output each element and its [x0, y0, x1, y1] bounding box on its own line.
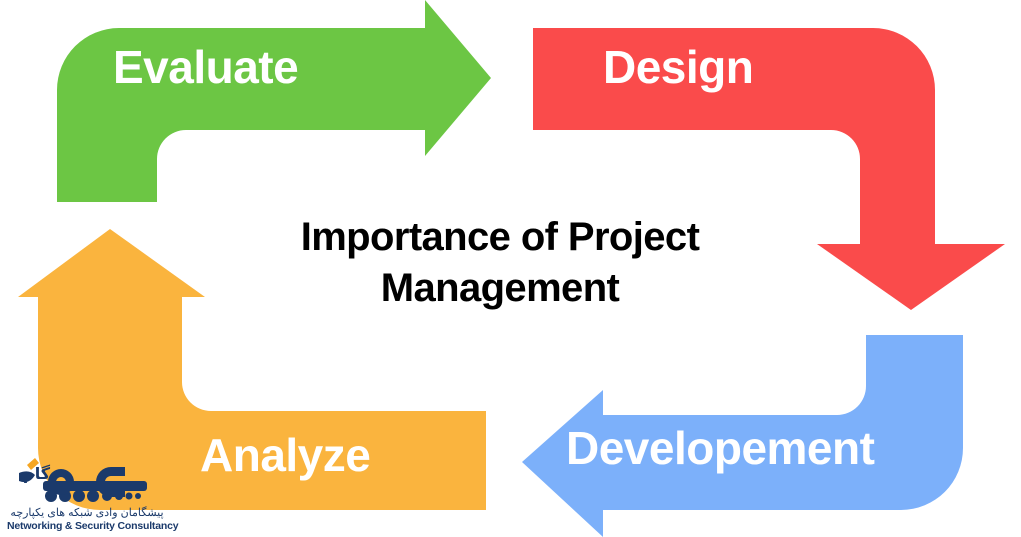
arrow-label-design: Design — [603, 44, 753, 90]
diagram-center-title: Importance of Project Management — [205, 212, 795, 314]
arrow-evaluate[interactable] — [57, 0, 491, 202]
arrow-label-evaluate: Evaluate — [113, 44, 298, 90]
diagram-canvas: Evaluate Design Developement Analyze Imp… — [0, 0, 1021, 537]
center-title-line-1: Importance of Project — [205, 212, 795, 263]
svg-text:گام: گام — [23, 464, 51, 483]
watermark-tagline-fa: پیشگامان وادی شبکه های یکپارچه — [7, 507, 167, 520]
watermark-logo: گام پیشگامان وادی شبکه های یکپارچه Netwo… — [7, 455, 167, 533]
watermark-mark: گام — [7, 455, 167, 507]
watermark-glyph-icon: گام — [7, 455, 167, 507]
watermark-tagline-en: Networking & Security Consultancy — [7, 520, 167, 532]
arrow-label-analyze: Analyze — [200, 432, 370, 478]
center-title-line-2: Management — [205, 263, 795, 314]
arrow-label-developement: Developement — [566, 425, 874, 471]
